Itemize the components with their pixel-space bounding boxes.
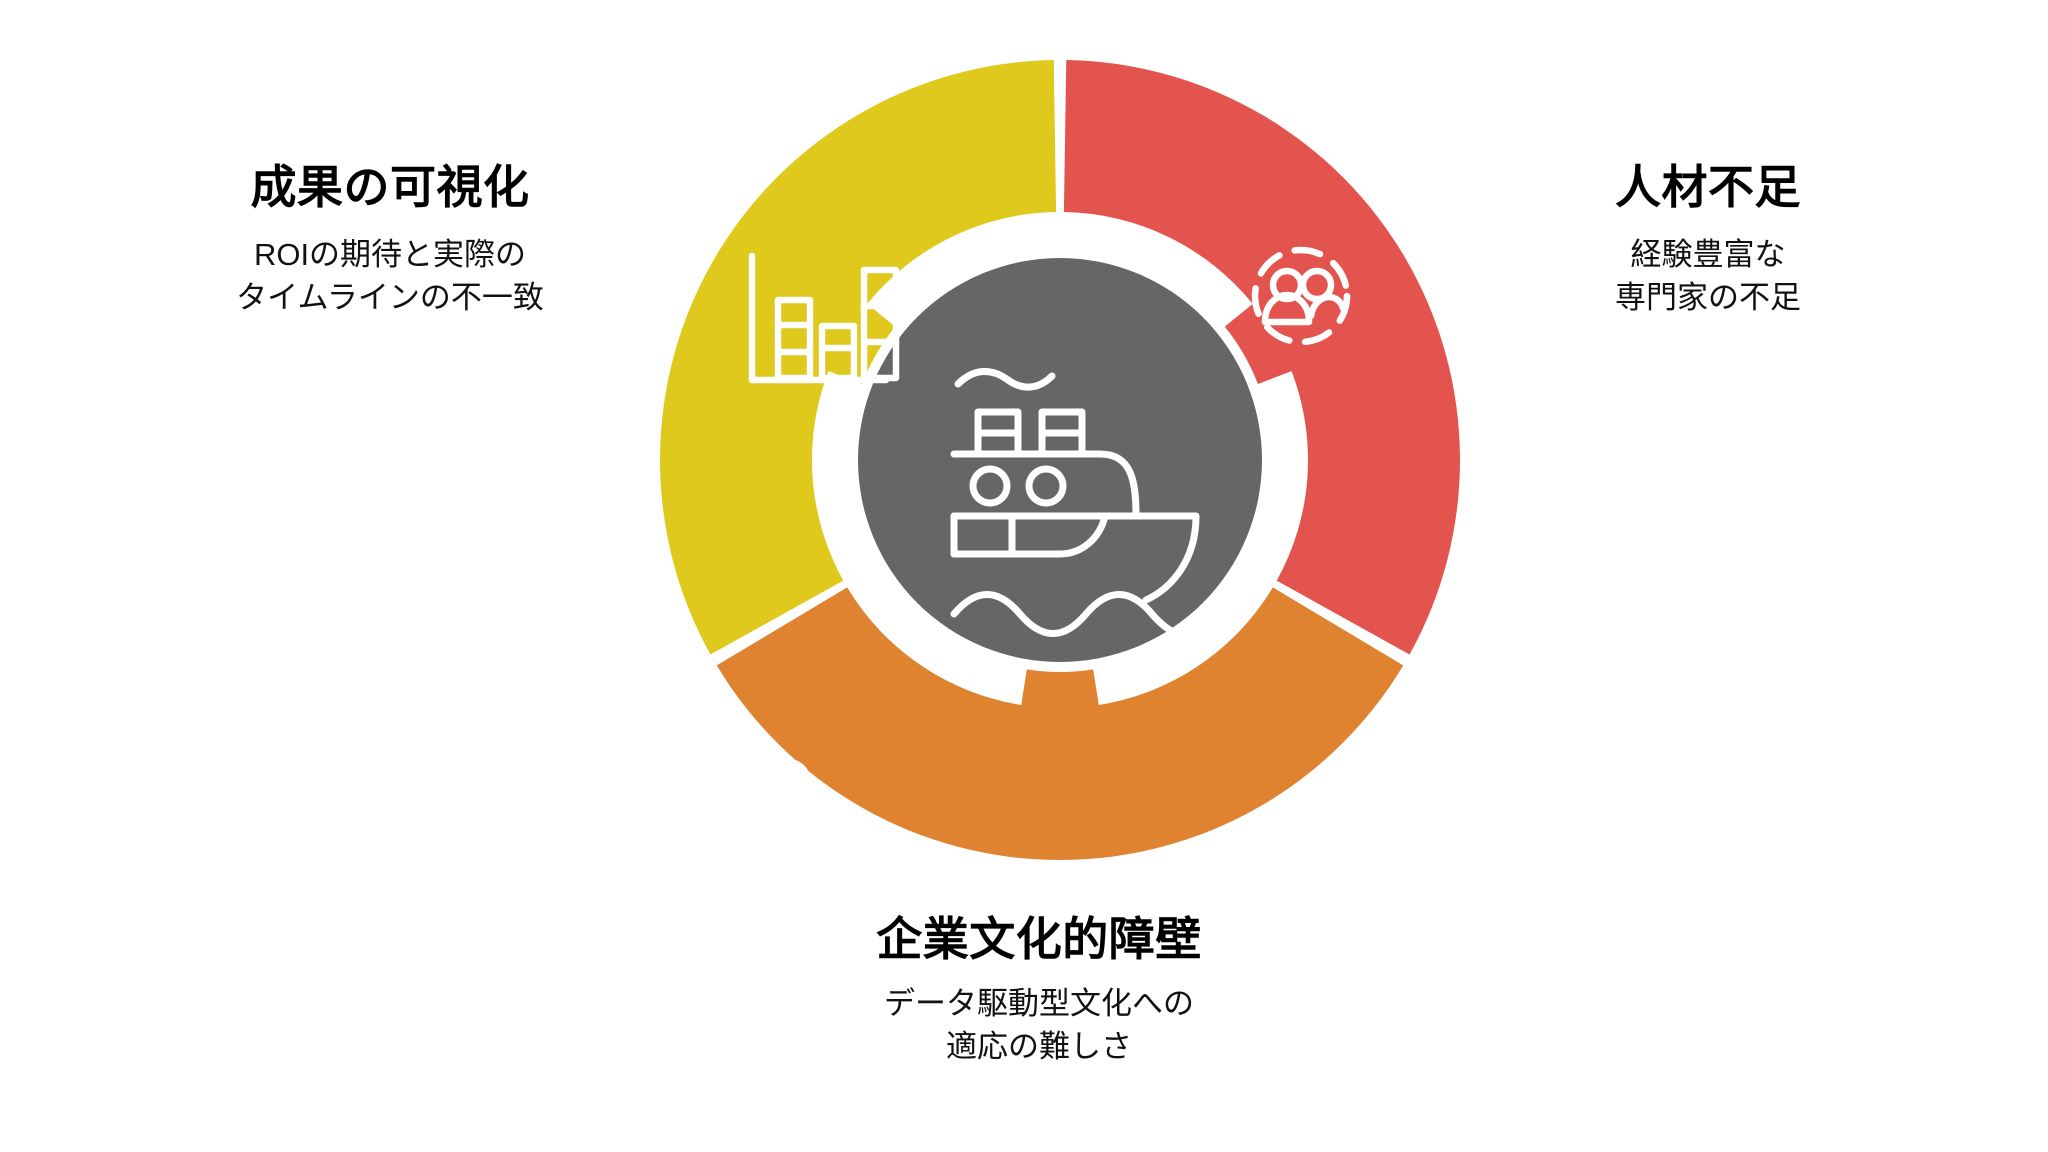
center-circle: [858, 258, 1262, 662]
label-block-corporate-culture-barrier: 企業文化的障壁 データ駆動型文化への 適応の難しさ: [639, 910, 1439, 1068]
description-line: 専門家の不足: [1498, 276, 1918, 319]
label-description-talent-shortage: 経験豊富な 専門家の不足: [1498, 233, 1918, 319]
slide-canvas: 成果の可視化 ROIの期待と実際の タイムラインの不一致 人材不足 経験豊富な …: [0, 0, 2048, 1152]
label-title-corporate-culture-barrier: 企業文化的障壁: [639, 910, 1439, 968]
description-line: データ駆動型文化への: [639, 982, 1439, 1025]
donut-svg: [640, 40, 1480, 880]
label-description-corporate-culture-barrier: データ駆動型文化への 適応の難しさ: [639, 982, 1439, 1068]
donut-diagram: [640, 40, 1480, 880]
label-block-talent-shortage: 人材不足 経験豊富な 専門家の不足: [1498, 158, 1918, 319]
label-description-outcome-visibility: ROIの期待と実際の タイムラインの不一致: [150, 233, 630, 319]
description-line: ROIの期待と実際の: [150, 233, 630, 276]
label-title-outcome-visibility: 成果の可視化: [150, 158, 630, 216]
label-block-outcome-visibility: 成果の可視化 ROIの期待と実際の タイムラインの不一致: [150, 158, 630, 319]
description-line: 適応の難しさ: [639, 1025, 1439, 1068]
description-line: 経験豊富な: [1498, 233, 1918, 276]
label-title-talent-shortage: 人材不足: [1498, 158, 1918, 216]
description-line: タイムラインの不一致: [150, 276, 630, 319]
